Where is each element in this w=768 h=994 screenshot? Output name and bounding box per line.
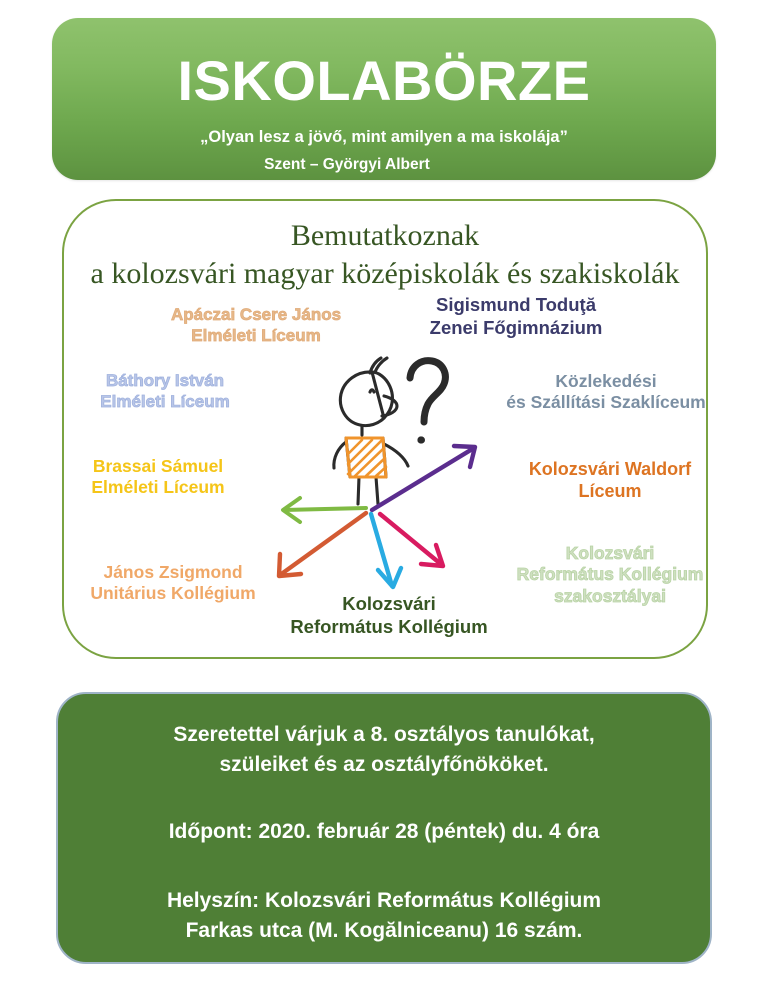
school-line-2: Elméleti Líceum	[148, 326, 364, 347]
school-line-1: Apáczai Csere János	[148, 305, 364, 326]
card-subtitle-line1: Bemutatkoznak	[64, 219, 706, 253]
school-line-1: Közlekedési	[484, 371, 728, 392]
event-datetime: Időpont: 2020. február 28 (péntek) du. 4…	[58, 817, 710, 847]
school-line-1: Sigismund Toduţă	[400, 294, 632, 317]
school-line-1: Báthory István	[58, 371, 272, 392]
school-label-apaczai-csere-janos: Apáczai Csere János Elméleti Líceum	[148, 305, 364, 346]
header-banner: ISKOLABÖRZE „Olyan lesz a jövő, mint ami…	[52, 18, 716, 180]
school-label-bathory-istvan: Báthory István Elméleti Líceum	[58, 371, 272, 412]
shirt-hatching	[348, 440, 386, 476]
page-title: ISKOLABÖRZE	[52, 52, 716, 111]
event-info-box: Szeretettel várjuk a 8. osztályos tanuló…	[56, 692, 712, 964]
arrow-down-right-magenta	[380, 514, 443, 566]
school-label-sigismund-toduta: Sigismund Toduţă Zenei Főgimnázium	[400, 294, 632, 339]
school-line-2: és Szállítási Szaklíceum	[484, 392, 728, 413]
school-label-kolozsvari-reformatus: Kolozsvári Református Kollégium	[258, 593, 520, 638]
school-line-1: Kolozsvári Waldorf	[498, 459, 722, 481]
school-line-3: szakosztályai	[496, 586, 724, 607]
school-line-1: Brassai Sámuel	[52, 456, 264, 477]
school-line-2: Elméleti Líceum	[58, 392, 272, 413]
question-mark-dot	[417, 436, 424, 443]
school-line-2: Elméleti Líceum	[52, 477, 264, 498]
school-label-kozlekedesi-szallitasi: Közlekedési és Szállítási Szaklíceum	[484, 371, 728, 414]
invitation-line-1: Szeretettel várjuk a 8. osztályos tanuló…	[58, 720, 710, 750]
school-label-brassai-samuel: Brassai Sámuel Elméleti Líceum	[52, 456, 264, 499]
event-venue-line-1: Helyszín: Kolozsvári Református Kollégiu…	[58, 886, 710, 916]
header-quote: „Olyan lesz a jövő, mint amilyen a ma is…	[52, 128, 716, 147]
invitation-text: Szeretettel várjuk a 8. osztályos tanuló…	[58, 720, 710, 780]
arrow-down-left-red	[279, 513, 366, 576]
school-label-reformatus-szakosztalyai: Kolozsvári Református Kollégium szakoszt…	[496, 543, 724, 607]
invitation-line-2: szüleiket és az osztályfőnököket.	[58, 750, 710, 780]
question-mark-icon	[410, 361, 445, 440]
school-line-1: Kolozsvári	[258, 593, 520, 616]
school-line-1: Kolozsvári	[496, 543, 724, 564]
arrow-up-right-purple	[372, 446, 475, 510]
school-line-2: Zenei Főgimnázium	[400, 317, 632, 340]
school-line-2: Líceum	[498, 481, 722, 503]
person-icon	[334, 358, 408, 504]
card-subtitle-line2: a kolozsvári magyar középiskolák és szak…	[64, 257, 706, 291]
event-datetime-line: Időpont: 2020. február 28 (péntek) du. 4…	[58, 817, 710, 847]
header-quote-attribution: Szent – Györgyi Albert	[52, 156, 716, 174]
event-venue-line-2: Farkas utca (M. Kogălniceanu) 16 szám.	[58, 916, 710, 946]
school-label-kolozsvari-waldorf: Kolozsvári Waldorf Líceum	[498, 459, 722, 503]
school-line-2: Református Kollégium	[496, 564, 724, 585]
arrow-left-green	[283, 498, 366, 522]
school-label-janos-zsigmond: János Zsigmond Unitárius Kollégium	[58, 562, 288, 605]
school-line-2: Unitárius Kollégium	[58, 583, 288, 604]
school-line-1: János Zsigmond	[58, 562, 288, 583]
stick-figure-illustration	[258, 352, 502, 590]
event-venue: Helyszín: Kolozsvári Református Kollégiu…	[58, 886, 710, 946]
school-line-2: Református Kollégium	[258, 616, 520, 639]
